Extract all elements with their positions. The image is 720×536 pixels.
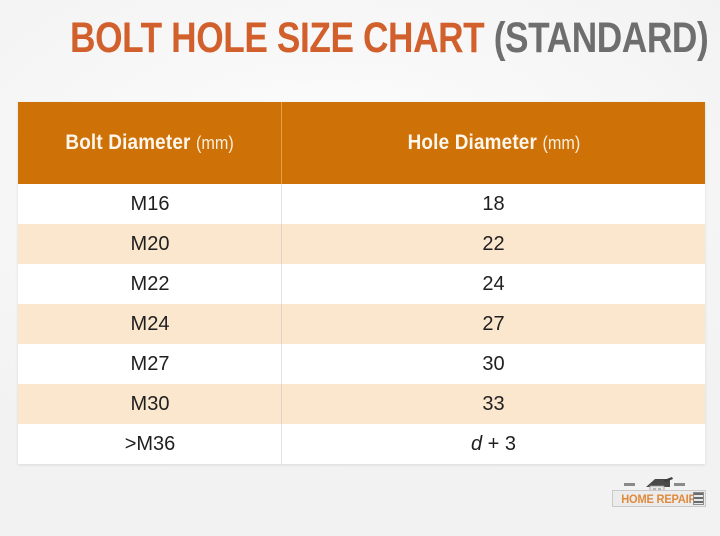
table-body: M16 18 M20 22 M22 24 M24 27 M27 30 M30 3… [18,184,705,464]
page-title-main: BOLT HOLE SIZE CHART [70,14,484,62]
cell-bolt-diameter: M20 [18,224,282,264]
formula-variable: d [471,433,482,455]
cell-bolt-diameter: M30 [18,384,282,424]
page-title-sub: (STANDARD) [494,14,709,62]
logo-text: HOME REPAIR [621,493,696,505]
cell-bolt-diameter: M22 [18,264,282,304]
cell-bolt-diameter: >M36 [18,424,282,464]
page-title: BOLT HOLE SIZE CHART (STANDARD) [0,14,720,62]
table-row: M30 33 [18,384,705,424]
cell-hole-diameter: 22 [282,224,705,264]
table-header-row: Bolt Diameter (mm) Hole Diameter (mm) [18,102,705,184]
bolt-hole-size-table: Bolt Diameter (mm) Hole Diameter (mm) M1… [18,102,705,464]
column-header-hole-diameter-unit: (mm) [542,133,580,153]
home-repair-logo[interactable]: HOME REPAIR [612,477,706,509]
chart-page: BOLT HOLE SIZE CHART (STANDARD) Bolt Dia… [0,0,720,536]
table-row: M16 18 [18,184,705,224]
table-header: Bolt Diameter (mm) Hole Diameter (mm) [18,102,705,184]
cell-bolt-diameter: M16 [18,184,282,224]
cell-hole-diameter: 30 [282,344,705,384]
cell-bolt-diameter: M27 [18,344,282,384]
table-row: M24 27 [18,304,705,344]
table-row: M20 22 [18,224,705,264]
column-header-hole-diameter-label: Hole Diameter [407,131,536,154]
cell-hole-diameter: 33 [282,384,705,424]
formula-suffix: + 3 [482,433,516,455]
cell-bolt-diameter: M24 [18,304,282,344]
table-row: M22 24 [18,264,705,304]
cell-hole-diameter: 27 [282,304,705,344]
cell-hole-diameter: 24 [282,264,705,304]
column-header-bolt-diameter: Bolt Diameter (mm) [18,102,282,184]
logo-badge-icon [693,492,704,505]
column-header-bolt-diameter-unit: (mm) [196,133,234,153]
table-row: M27 30 [18,344,705,384]
column-header-hole-diameter: Hole Diameter (mm) [282,102,705,184]
cell-hole-diameter: 18 [282,184,705,224]
logo-name-bar: HOME REPAIR [612,490,706,507]
cell-hole-diameter-formula: d + 3 [282,424,705,464]
table-row: >M36 d + 3 [18,424,705,464]
column-header-bolt-diameter-label: Bolt Diameter [66,131,191,154]
